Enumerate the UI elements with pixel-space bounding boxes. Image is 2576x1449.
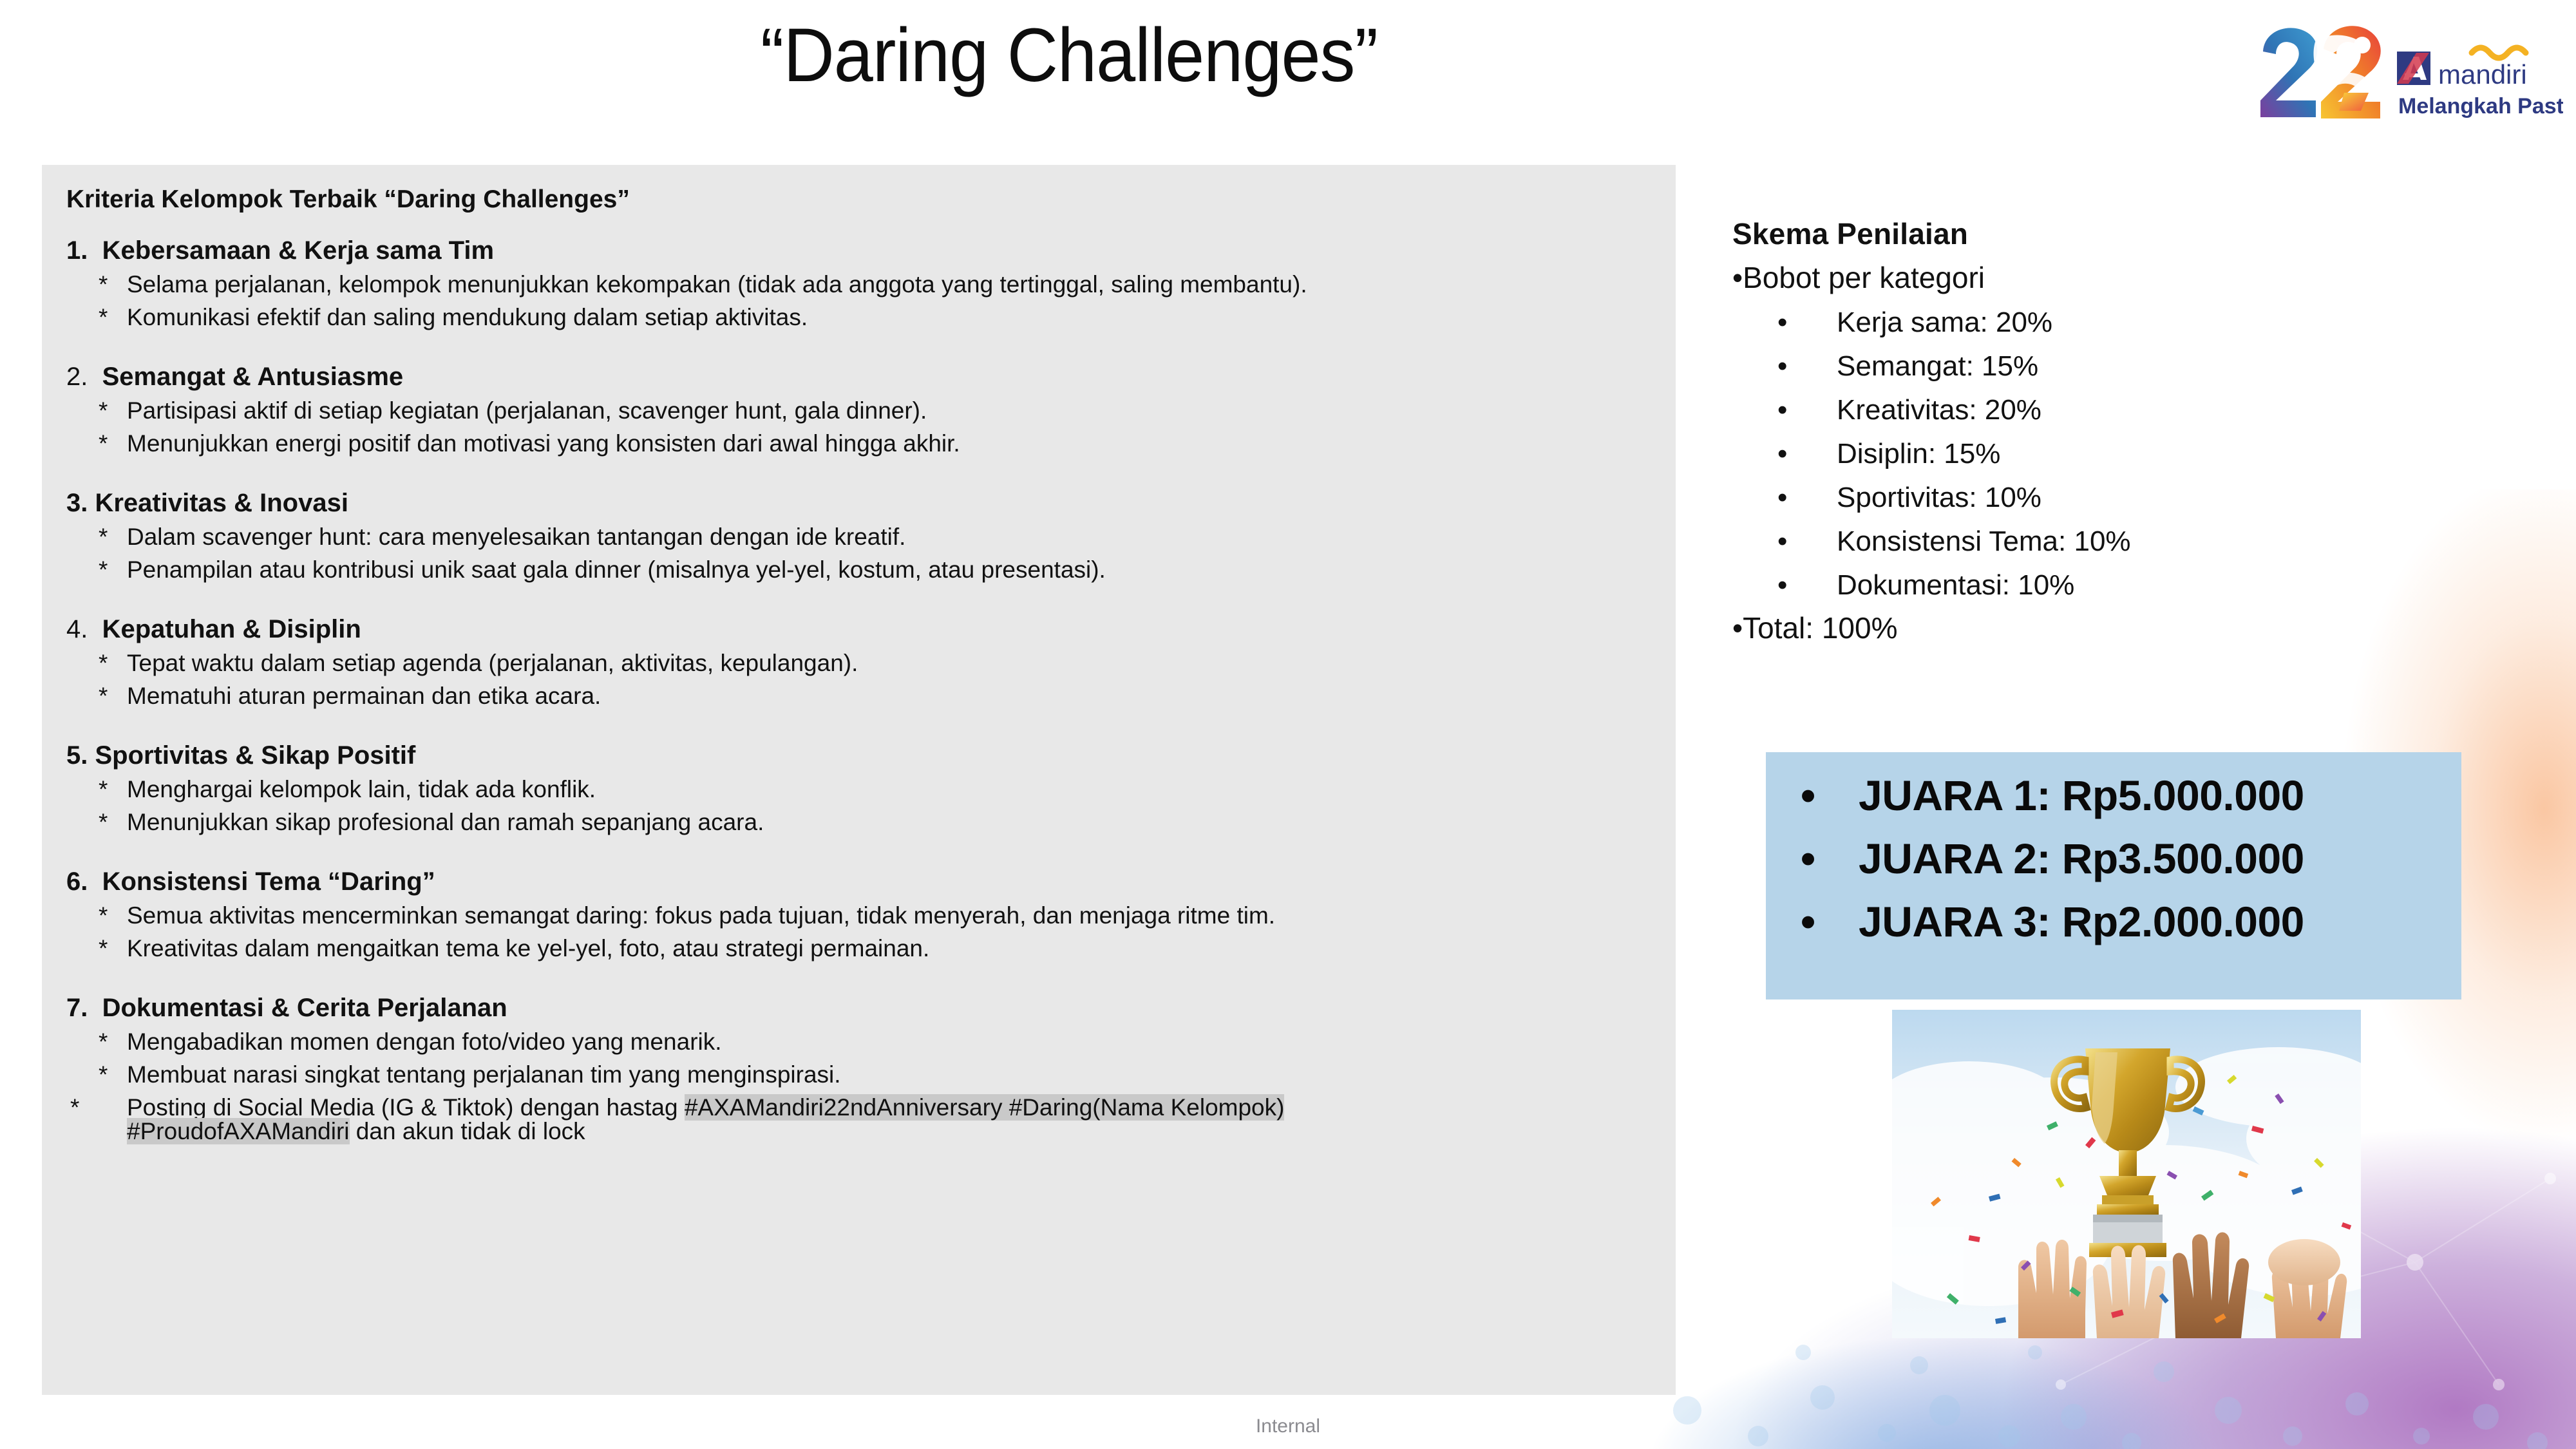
criterion-bullet: *Komunikasi efektif dan saling mendukung… <box>60 305 1654 329</box>
bullet-dot: • <box>1732 261 1743 294</box>
asterisk-bullet-icon: * <box>99 525 127 549</box>
criterion-number: 6. <box>66 867 88 896</box>
svg-text:mandiri: mandiri <box>2438 59 2527 90</box>
criterion-bullet: *Kreativitas dalam mengaitkan tema ke ye… <box>60 936 1654 960</box>
scoring-subheading: •Bobot per kategori <box>1732 260 2518 295</box>
criterion-title: Kreativitas & Inovasi <box>88 489 348 517</box>
criterion-title: Konsistensi Tema “Daring” <box>88 867 435 896</box>
criterion-title: Kepatuhan & Disiplin <box>88 615 361 643</box>
criterion-number: 1. <box>66 236 88 265</box>
criterion-number: 2. <box>66 363 88 391</box>
weight-item: •Dokumentasi: 10% <box>1732 569 2518 601</box>
weight-label: Kreativitas: 20% <box>1837 394 2041 426</box>
criterion-heading: 4. Kepatuhan & Disiplin <box>60 616 1654 642</box>
criterion-bullet: *Penampilan atau kontribusi unik saat ga… <box>60 558 1654 582</box>
criterion-bullet: *Menghargai kelompok lain, tidak ada kon… <box>60 777 1654 801</box>
weight-item: •Sportivitas: 10% <box>1732 482 2518 514</box>
weight-label: Disiplin: 15% <box>1837 438 2000 469</box>
bullet-dot-icon: • <box>1777 569 1837 601</box>
asterisk-bullet-icon: * <box>99 936 127 960</box>
asterisk-bullet-icon: * <box>99 431 127 455</box>
weights-list: •Kerja sama: 20%•Semangat: 15%•Kreativit… <box>1732 307 2518 601</box>
bullet-dot-icon: • <box>1801 837 1859 880</box>
criterion-bullet-text: Membuat narasi singkat tentang perjalana… <box>127 1061 841 1088</box>
criterion-title: Kebersamaan & Kerja sama Tim <box>88 236 494 265</box>
criterion-title: Semangat & Antusiasme <box>88 363 403 391</box>
weight-label: Sportivitas: 10% <box>1837 482 2041 513</box>
criterion-bullet-text: Tepat waktu dalam setiap agenda (perjala… <box>127 650 858 676</box>
criterion-number: 7. <box>66 994 88 1022</box>
criterion-heading: 6. Konsistensi Tema “Daring” <box>60 869 1654 895</box>
criterion-bullet: *Semua aktivitas mencerminkan semangat d… <box>60 904 1654 927</box>
criterion-bullet: *Mengabadikan momen dengan foto/video ya… <box>60 1030 1654 1054</box>
weight-label: Dokumentasi: 10% <box>1837 569 2074 601</box>
criterion-bullet-text: Kreativitas dalam mengaitkan tema ke yel… <box>127 935 929 961</box>
weight-label: Semangat: 15% <box>1837 350 2038 382</box>
asterisk-bullet-icon: * <box>99 558 127 582</box>
page-title: “Daring Challenges” <box>75 12 2063 99</box>
criterion-heading: 7. Dokumentasi & Cerita Perjalanan <box>60 995 1654 1021</box>
scoring-total: •Total: 100% <box>1732 611 2518 645</box>
criterion-bullet: *Membuat narasi singkat tentang perjalan… <box>60 1063 1654 1086</box>
criterion-bullet-text: Mematuhi aturan permainan dan etika acar… <box>127 683 601 709</box>
prize-label: JUARA 3: Rp2.000.000 <box>1859 898 2304 945</box>
criterion-item: 3. Kreativitas & Inovasi*Dalam scavenger… <box>60 490 1654 591</box>
criterion-bullet-text: Menghargai kelompok lain, tidak ada konf… <box>127 776 596 802</box>
criterion-heading: 2. Semangat & Antusiasme <box>60 364 1654 390</box>
weight-item: •Kreativitas: 20% <box>1732 394 2518 426</box>
scoring-subheading-label: Bobot per kategori <box>1743 261 1985 294</box>
scoring-heading: Skema Penilaian <box>1732 216 2518 251</box>
scoring-scheme-panel: Skema Penilaian •Bobot per kategori •Ker… <box>1732 216 2518 645</box>
criterion-item: 1. Kebersamaan & Kerja sama Tim*Selama p… <box>60 238 1654 338</box>
bullet-dot-icon: • <box>1801 774 1859 817</box>
weight-item: •Disiplin: 15% <box>1732 438 2518 470</box>
trophy-photo <box>1892 1010 2361 1338</box>
asterisk-bullet-icon: * <box>99 1063 127 1086</box>
asterisk-bullet-icon: * <box>99 684 127 708</box>
bullet-dot-icon: • <box>1777 438 1837 470</box>
criterion-bullet: *Menunjukkan energi positif dan motivasi… <box>60 431 1654 455</box>
weight-label: Kerja sama: 20% <box>1837 307 2052 338</box>
criterion-item: 7. Dokumentasi & Cerita Perjalanan*Menga… <box>60 995 1654 1143</box>
svg-text:Melangkah Pasti: Melangkah Pasti <box>2398 94 2563 118</box>
asterisk-bullet-icon: * <box>99 810 127 834</box>
criteria-list: 1. Kebersamaan & Kerja sama Tim*Selama p… <box>60 238 1654 1143</box>
asterisk-bullet-icon: * <box>99 272 127 296</box>
criterion-number: 5. <box>66 741 88 770</box>
criterion-heading: 1. Kebersamaan & Kerja sama Tim <box>60 238 1654 263</box>
bullet-dot-icon: • <box>1777 482 1837 514</box>
criterion-item: 6. Konsistensi Tema “Daring”*Semua aktiv… <box>60 869 1654 969</box>
prize-label: JUARA 1: Rp5.000.000 <box>1859 772 2304 819</box>
bullet-dot-icon: • <box>1801 900 1859 943</box>
criterion-title: Dokumentasi & Cerita Perjalanan <box>88 994 507 1022</box>
bullet-dot-icon: • <box>1777 394 1837 426</box>
prize-list: •JUARA 1: Rp5.000.000•JUARA 2: Rp3.500.0… <box>1766 774 2461 943</box>
asterisk-bullet-icon: * <box>99 777 127 801</box>
criterion-bullet: *Dalam scavenger hunt: cara menyelesaika… <box>60 525 1654 549</box>
weight-item: •Semangat: 15% <box>1732 350 2518 383</box>
criterion-bullet-text: Menunjukkan energi positif dan motivasi … <box>127 430 960 457</box>
criteria-panel: Kriteria Kelompok Terbaik “Daring Challe… <box>42 165 1676 1395</box>
criterion-bullet: *Mematuhi aturan permainan dan etika aca… <box>60 684 1654 708</box>
asterisk-bullet-icon: * <box>99 1095 127 1119</box>
asterisk-bullet-icon: * <box>99 904 127 927</box>
criterion-bullet-text: Menunjukkan sikap profesional dan ramah … <box>127 809 764 835</box>
criterion-heading: 3. Kreativitas & Inovasi <box>60 490 1654 516</box>
asterisk-bullet-icon: * <box>99 651 127 675</box>
bullet-dot-total: • <box>1732 611 1743 645</box>
weight-label: Konsistensi Tema: 10% <box>1837 526 2131 557</box>
social-prefix-text: Posting di Social Media (IG & Tiktok) de… <box>127 1094 685 1121</box>
criterion-item: 2. Semangat & Antusiasme*Partisipasi akt… <box>60 364 1654 464</box>
criterion-bullet-text: Mengabadikan momen dengan foto/video yan… <box>127 1028 722 1055</box>
bullet-dot-icon: • <box>1777 350 1837 383</box>
prize-item: •JUARA 2: Rp3.500.000 <box>1766 837 2461 880</box>
criteria-panel-heading: Kriteria Kelompok Terbaik “Daring Challe… <box>60 184 1654 212</box>
criterion-bullet: *Tepat waktu dalam setiap agenda (perjal… <box>60 651 1654 675</box>
criterion-item: 4. Kepatuhan & Disiplin*Tepat waktu dala… <box>60 616 1654 717</box>
social-suffix-text: dan akun tidak di lock <box>350 1118 585 1144</box>
weight-item: •Konsistensi Tema: 10% <box>1732 526 2518 558</box>
prize-box: •JUARA 1: Rp5.000.000•JUARA 2: Rp3.500.0… <box>1766 752 2461 999</box>
criterion-bullet: *Menunjukkan sikap profesional dan ramah… <box>60 810 1654 834</box>
criterion-bullet-text: Penampilan atau kontribusi unik saat gal… <box>127 556 1106 583</box>
prize-item: •JUARA 3: Rp2.000.000 <box>1766 900 2461 943</box>
criterion-bullet-text: Dalam scavenger hunt: cara menyelesaikan… <box>127 524 905 550</box>
bullet-dot-icon: • <box>1777 526 1837 558</box>
bullet-dot-icon: • <box>1777 307 1837 339</box>
criterion-heading: 5. Sportivitas & Sikap Positif <box>60 743 1654 768</box>
criterion-bullet-text: Komunikasi efektif dan saling mendukung … <box>127 304 808 330</box>
hashtag-highlight-2: #ProudofAXAMandiri <box>127 1118 350 1144</box>
criterion-title: Sportivitas & Sikap Positif <box>88 741 415 770</box>
criterion-number: 3. <box>66 489 88 517</box>
criterion-bullet: *Partisipasi aktif di setiap kegiatan (p… <box>60 399 1654 422</box>
footer-classification: Internal <box>0 1416 2576 1437</box>
hashtag-highlight-1: #AXAMandiri22ndAnniversary #Daring(Nama … <box>685 1094 1285 1121</box>
criterion-bullet-text: Selama perjalanan, kelompok menunjukkan … <box>127 271 1307 298</box>
prize-label: JUARA 2: Rp3.500.000 <box>1859 835 2304 882</box>
criterion-bullet: *Selama perjalanan, kelompok menunjukkan… <box>60 272 1654 296</box>
social-media-bullet: *Posting di Social Media (IG & Tiktok) d… <box>60 1095 1654 1143</box>
scoring-total-label: Total: 100% <box>1743 611 1897 645</box>
asterisk-bullet-icon: * <box>99 1030 127 1054</box>
criterion-bullet-text: Semua aktivitas mencerminkan semangat da… <box>127 902 1275 929</box>
asterisk-bullet-icon: * <box>99 399 127 422</box>
asterisk-bullet-icon: * <box>99 305 127 329</box>
weight-item: •Kerja sama: 20% <box>1732 307 2518 339</box>
prize-item: •JUARA 1: Rp5.000.000 <box>1766 774 2461 817</box>
criterion-number: 4. <box>66 615 88 643</box>
criterion-item: 5. Sportivitas & Sikap Positif*Mengharga… <box>60 743 1654 843</box>
criterion-bullet-text: Partisipasi aktif di setiap kegiatan (pe… <box>127 397 927 424</box>
axa-mandiri-anniversary-logo: mandiri Melangkah Pasti <box>2254 15 2563 125</box>
